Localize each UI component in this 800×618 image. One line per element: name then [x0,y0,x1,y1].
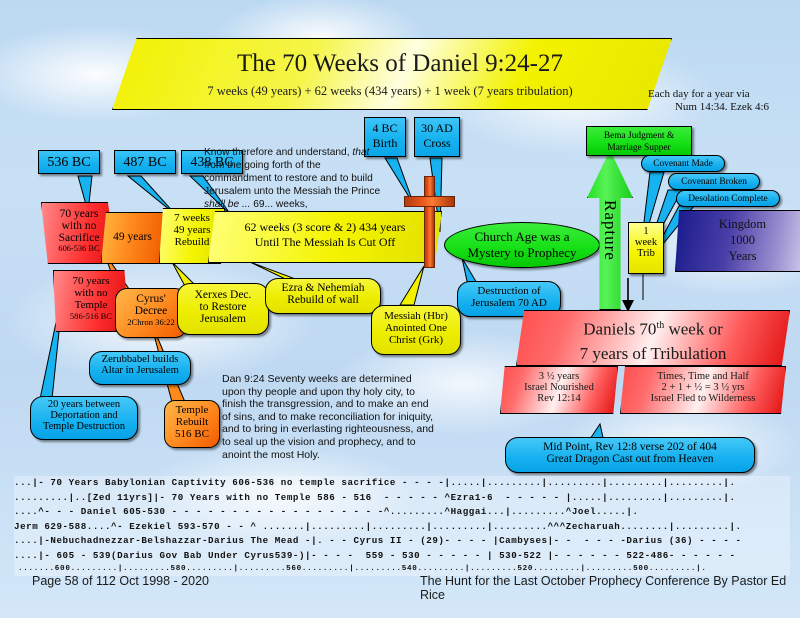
cyrus-l2: Decree [116,305,186,317]
quote-l5: 69... weeks, [250,199,307,210]
timeline-block-62-weeks[interactable]: 62 weeks (3 score & 2) 434 years Until T… [208,211,442,263]
temple-l2: Rebuilt [165,416,219,428]
dan924-l5: and to bring in everlasting righteousnes… [222,423,490,436]
kingdom-l3: Years [675,248,800,264]
slide-canvas: The 70 Weeks of Daniel 9:24-27 7 weeks (… [0,0,800,618]
destruction-l1: Destruction of [458,285,560,297]
timeline-block-one-week-trib[interactable]: 1 week Trib [628,222,664,274]
quote-l1: Know therefore and understand, [204,147,352,158]
xerxes-decree-box[interactable]: Xerxes Dec. to Restore Jerusalem [177,283,269,335]
temple-l1: Temple [165,404,219,416]
trib-right-l3: Israel Fled to Wilderness [621,393,785,404]
dan924-l4: of sins, and to make reconciliation for … [222,411,490,424]
cross-vertical-icon [424,176,435,268]
kingdom-l1: Kingdom [675,216,800,232]
midpoint-l1: Mid Point, Rev 12:8 verse 202 of 404 [506,441,754,453]
zerubbabel-box[interactable]: Zerubbabel builds Altar in Jerusalem [89,351,191,385]
messiah-l3: Christ (Grk) [372,334,460,346]
flag-30ad-line2: Cross [415,136,459,151]
dan-9-24-paragraph: Dan 9:24 Seventy weeks are determined up… [222,373,490,461]
page-title: The 70 Weeks of Daniel 9:24-27 [150,50,650,78]
church-age-label: Church Age was a Mystery to Prophecy [444,229,600,261]
quote-l3: commandment to restore and to build [204,172,404,185]
quote-l4: Jerusalem unto the Messiah the Prince [204,185,404,198]
church-age-l1: Church Age was a [444,229,600,245]
tribulation-left-panel[interactable]: 3 ½ years Israel Nourished Rev 12:14 [500,366,618,414]
messiah-l2: Anointed One [372,322,460,334]
cyrus-l1: Cyrus' [116,293,186,305]
covenant-made-flag[interactable]: Covenant Made [641,155,725,172]
covenant-broken-flag[interactable]: Covenant Broken [668,173,760,190]
footer-right: The Hunt for the Last October Prophecy C… [420,574,800,602]
twenty-l2: Deportation and [31,410,137,421]
dan924-l2: upon thy people and upon thy holy city, … [222,386,490,399]
fortynine-l1: 49 years [102,231,163,243]
flag-30ad-line1: 30 AD [415,121,459,136]
footer-left: Page 58 of 112 Oct 1998 - 2020 [32,574,209,588]
messiah-l1: Messiah (Hbr) [372,310,460,322]
ezra-l2: Rebuild of wall [266,294,380,306]
trib-right-l1: Times, Time and Half [621,371,785,382]
dan924-l6: to seal up the vision and prophecy, and … [222,436,490,449]
oneweek-l1: 1 [629,226,663,237]
ascii-line-2: .........|..[Zed 11yrs]|- 70 Years with … [14,491,790,506]
rapture-label: Rapture [600,200,620,261]
trib-title-b: week or [664,320,723,339]
trib-left-l3: Rev 12:14 [501,393,617,404]
ascii-line-6: ....|- 605 - 539(Darius Gov Bab Under Cy… [14,549,790,564]
xerxes-l2: to Restore [178,301,268,313]
trib-right-l2: 2 + 1 + ½ = 3 ½ yrs [621,382,785,393]
twenty-years-box[interactable]: 20 years between Deportation and Temple … [30,396,138,440]
page-subtitle: 7 weeks (49 years) + 62 weeks (434 years… [140,84,640,98]
ascii-line-5: ....|-Nebuchadnezzar-Belshazzar-Darius T… [14,534,790,549]
oneweek-l3: Trib [629,248,663,259]
xerxes-l1: Xerxes Dec. [178,289,268,301]
zerub-l1: Zerubbabel builds [90,354,190,365]
cross-horizontal-icon [404,196,455,207]
ascii-timeline-chart: ...|- 70 Years Babylonian Captivity 606-… [14,476,790,576]
captivity-l1: 70 years [42,208,116,220]
twenty-l3: Temple Destruction [31,421,137,432]
dan924-l7: anoint the most Holy. [222,449,490,462]
kingdom-l2: 1000 [675,232,800,248]
ascii-ruler-line: .......600.........|.........580........… [18,565,794,573]
desolation-complete-flag[interactable]: Desolation Complete [676,190,780,207]
midpoint-callout[interactable]: Mid Point, Rev 12:8 verse 202 of 404 Gre… [505,437,755,473]
church-age-l2: Mystery to Prophecy [444,245,600,261]
bema-l1: Bema Judgment & [587,130,691,142]
flag-4bc-line1: 4 BC [365,121,405,136]
sixtytwo-l2: Until The Messiah Is Cut Off [209,235,441,250]
kingdom-label: Kingdom 1000 Years [675,216,800,264]
dan924-l3: finish the transgression, and to make an… [222,398,490,411]
dan924-l1: Dan 9:24 Seventy weeks are determined [222,373,490,386]
midpoint-l2: Great Dragon Cast out from Heaven [506,453,754,465]
notemple-l1: 70 years [54,275,128,287]
bema-judgment-box[interactable]: Bema Judgment & Marriage Supper [586,126,692,156]
trib-title-a: Daniels 70 [583,320,656,339]
trib-left-l2: Israel Nourished [501,382,617,393]
date-flag-536bc[interactable]: 536 BC [38,150,100,174]
quote-l1-italic: that [352,147,369,158]
oneweek-l2: week [629,237,663,248]
bema-l2: Marriage Supper [587,142,691,154]
xerxes-l3: Jerusalem [178,313,268,325]
ezra-nehemiah-box[interactable]: Ezra & Nehemiah Rebuild of wall [265,278,381,314]
cyrus-l3: 2Chron 36:22 [116,317,186,327]
trib-title-l2: 7 years of Tribulation [516,342,790,366]
timeline-block-49-years[interactable]: 49 years [101,212,164,264]
date-flag-487bc[interactable]: 487 BC [114,150,176,174]
destruction-l2: Jerusalem 70 AD [458,297,560,309]
rapture-label-wrap: Rapture [587,150,633,310]
date-flag-30ad-cross[interactable]: 30 AD Cross [414,117,460,157]
ezra-l1: Ezra & Nehemiah [266,282,380,294]
scripture-quote-block: Know therefore and understand, that from… [204,146,404,211]
tribulation-title-text: Daniels 70th week or 7 years of Tribulat… [516,314,790,366]
quote-l2: from the going forth of the [204,159,404,172]
trib-left-l1: 3 ½ years [501,371,617,382]
twenty-l1: 20 years between [31,399,137,410]
messiah-box[interactable]: Messiah (Hbr) Anointed One Christ (Grk) [371,305,461,355]
day-for-year-note-line1: Each day for a year via [648,88,798,100]
ascii-line-1: ...|- 70 Years Babylonian Captivity 606-… [14,476,790,491]
tribulation-right-panel[interactable]: Times, Time and Half 2 + 1 + ½ = 3 ½ yrs… [620,366,786,414]
day-for-year-note-line2: Num 14:34. Ezek 4:6 [648,101,796,113]
temple-l3: 516 BC [165,428,219,440]
temple-rebuilt-box[interactable]: Temple Rebuilt 516 BC [164,400,220,448]
zerub-l2: Altar in Jerusalem [90,365,190,376]
ascii-line-3: ....^- - - Daniel 605-530 - - - - - - - … [14,505,790,520]
sixtytwo-l1: 62 weeks (3 score & 2) 434 years [209,220,441,235]
ascii-line-4: Jerm 629-588....^- Ezekiel 593-570 - - ^… [14,520,790,535]
